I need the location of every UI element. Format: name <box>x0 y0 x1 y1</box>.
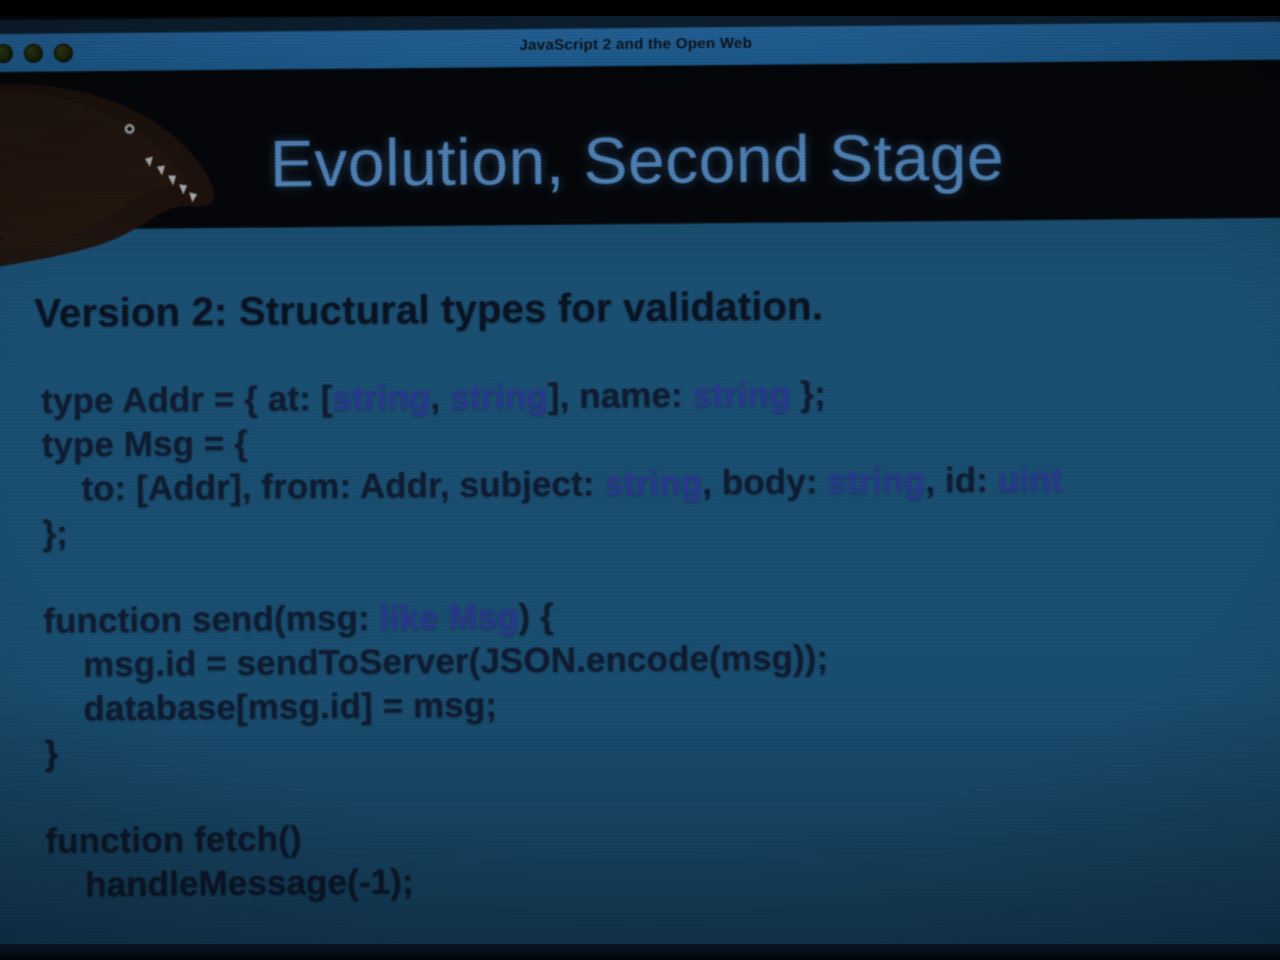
code-keyword: uint <box>998 460 1063 500</box>
photographed-projector-screen: JavaScript 2 and the Open Web Evolution,… <box>0 0 1280 960</box>
code-block: type Addr = { at: [string, string], name… <box>41 368 1266 908</box>
slide-subtitle: Version 2: Structural types for validati… <box>34 284 823 337</box>
code-keyword: like Msg <box>379 597 518 637</box>
code-keyword: string <box>332 378 430 418</box>
code-keyword: string <box>604 463 702 503</box>
code-keyword: string <box>450 377 548 417</box>
code-keyword: string <box>827 461 925 501</box>
close-button[interactable] <box>0 44 13 63</box>
zoom-button[interactable] <box>54 43 73 62</box>
screen-top-edge <box>0 0 1280 16</box>
presentation-window: JavaScript 2 and the Open Web Evolution,… <box>0 8 1280 956</box>
window-controls[interactable] <box>0 43 73 63</box>
minimize-button[interactable] <box>24 44 43 63</box>
code-keyword: string <box>692 375 790 415</box>
dinosaur-mascot-icon <box>0 80 242 273</box>
slide-body: Version 2: Structural types for validati… <box>0 218 1280 960</box>
screen-bottom-edge <box>0 944 1280 960</box>
